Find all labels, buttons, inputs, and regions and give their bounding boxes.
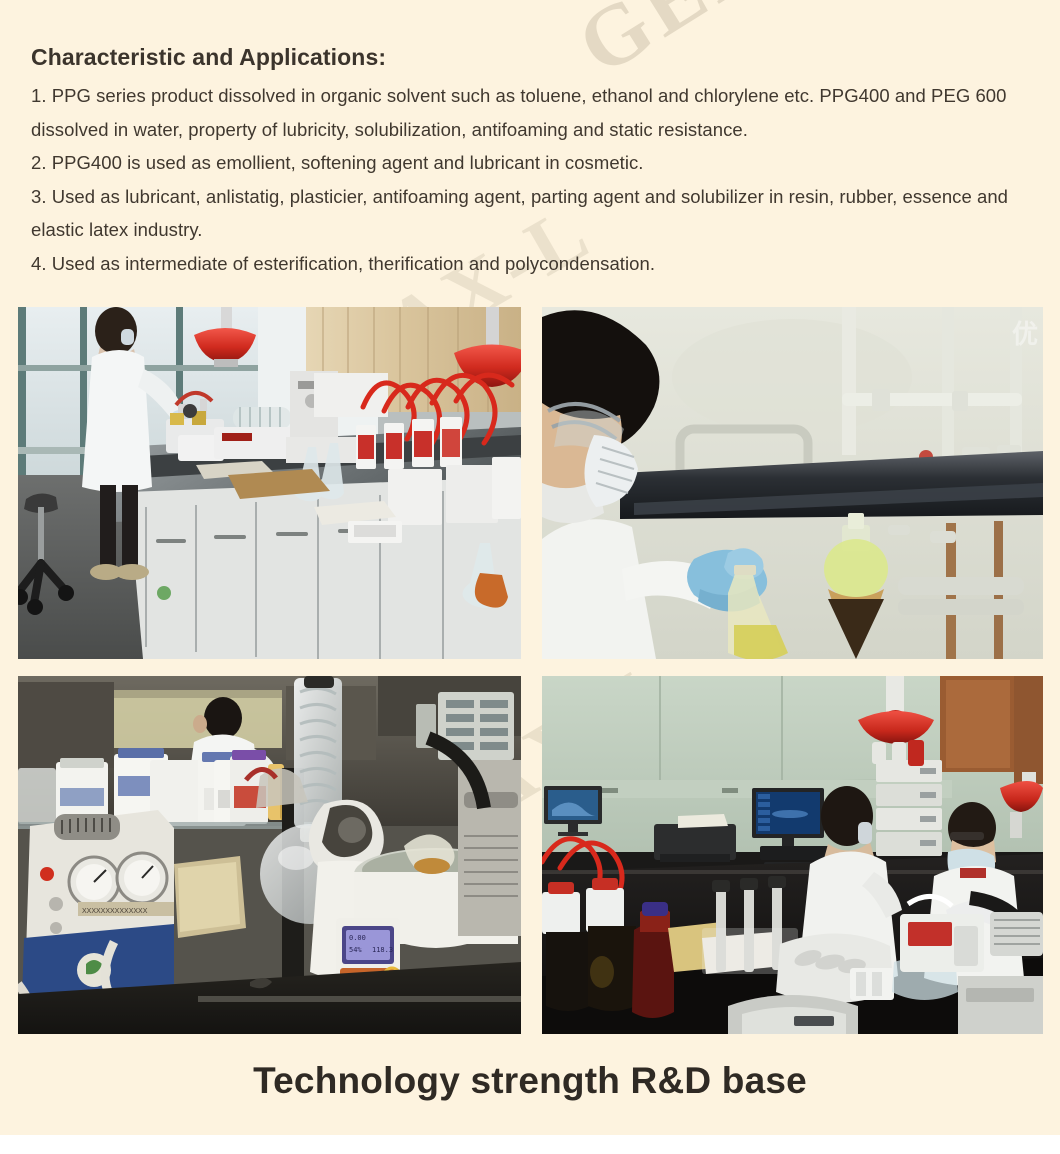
characteristic-item-4: 4. Used as intermediate of esterificatio… (31, 247, 1031, 281)
characteristics-text-block: Characteristic and Applications: 1. PPG … (31, 44, 1031, 280)
photo-gallery: 优 (18, 307, 1043, 1034)
svg-text:54%: 54% (349, 946, 362, 954)
svg-text:XXXXXXXXXXXXXX: XXXXXXXXXXXXXX (82, 908, 148, 915)
photo-rotary-evaporator: XXXXXXXXXXXXXX (18, 676, 521, 1034)
video-source-watermark: 优 (1012, 319, 1038, 349)
svg-text:0.00: 0.00 (349, 934, 366, 942)
characteristic-item-2: 2. PPG400 is used as emollient, softenin… (31, 146, 1031, 180)
stacked-instruments (876, 760, 942, 856)
photo-chemist-flask: 优 (542, 307, 1043, 659)
photo-lab-technician-bench (18, 307, 521, 659)
characteristic-item-1: 1. PPG series product dissolved in organ… (31, 79, 1031, 146)
svg-text:118.3: 118.3 (372, 946, 393, 954)
characteristic-item-3: 3. Used as lubricant, anlistatig, plasti… (31, 180, 1031, 247)
photo-qc-lab-team-image (542, 676, 1043, 1034)
bottom-white-strip (0, 1135, 1060, 1154)
section-caption: Technology strength R&D base (0, 1060, 1060, 1102)
photo-lab-technician-bench-image (18, 307, 521, 659)
photo-chemist-flask-image: 优 (542, 307, 1043, 659)
photo-qc-lab-team (542, 676, 1043, 1034)
photo-rotary-evaporator-image: XXXXXXXXXXXXXX (18, 676, 521, 1034)
product-detail-page: GENWAX-L GENWAX-L GENWAX-L Characteristi… (0, 0, 1060, 1154)
section-heading: Characteristic and Applications: (31, 44, 1031, 71)
